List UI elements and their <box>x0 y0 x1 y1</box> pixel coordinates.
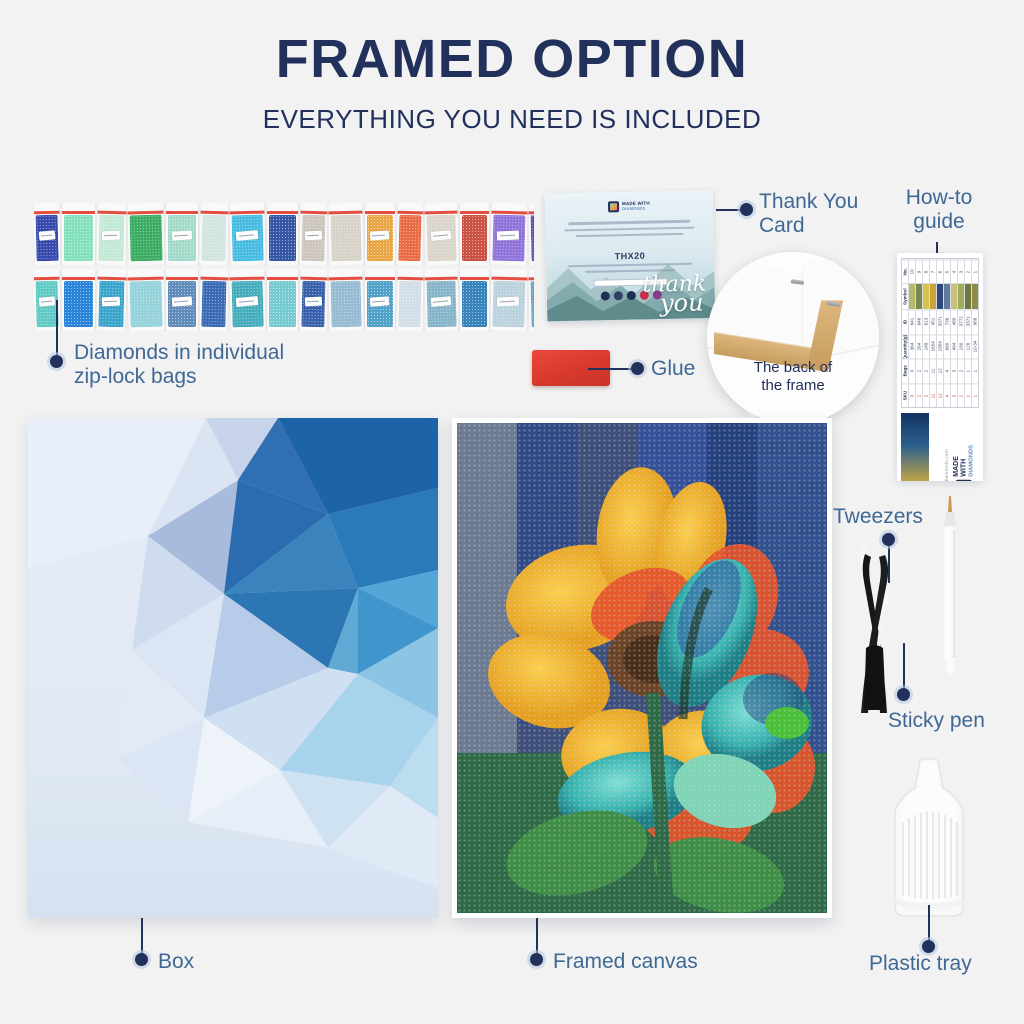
guide-chart-cell: 738 <box>944 309 950 333</box>
guide-chart-cell: 1654 <box>930 334 936 358</box>
bag-zip-seal <box>424 211 457 214</box>
dot-box <box>135 953 148 966</box>
card-body-text <box>560 220 698 241</box>
guide-chart-cell: 10-34 <box>972 334 978 358</box>
guide-chart-cell: 2 <box>958 358 964 382</box>
guide-chart-header-cell: SKU <box>902 383 908 407</box>
guide-chart-cell: 4 <box>951 259 957 283</box>
framed-canvas <box>452 418 832 918</box>
bag-label <box>38 296 55 307</box>
guide-chart-header-cell: Quantity(g) <box>902 334 908 358</box>
bag-zip-seal <box>98 211 127 214</box>
zip-lock-bag <box>490 203 528 265</box>
card-logo-mark-icon <box>608 201 619 212</box>
guide-chart-cell: 1 <box>972 358 978 382</box>
bag-zip-seal <box>166 211 198 214</box>
dot-tweezers <box>882 533 895 546</box>
zip-lock-bag <box>460 269 489 331</box>
label-frame-back: The back of the frame <box>707 359 879 394</box>
guide-chart-row: 448049433 <box>951 259 958 407</box>
guide-chart-cell: 3371 <box>937 309 943 333</box>
bag-zip-seal <box>301 277 328 280</box>
guide-chart-cell: 2 <box>923 383 929 407</box>
bag-zip-seal <box>328 277 362 280</box>
sticky-pen <box>938 496 962 700</box>
bag-zip-seal <box>201 277 229 280</box>
guide-chart-cell <box>909 283 915 309</box>
zip-lock-bag <box>528 269 534 331</box>
bag-label <box>171 296 191 307</box>
guide-chart-row: 3377219022 <box>958 259 965 407</box>
guide-chart-cell: 3772 <box>958 309 964 333</box>
bag-zip-seal <box>166 277 198 280</box>
guide-chart-cell <box>965 283 971 309</box>
plastic-tray <box>870 758 988 920</box>
bag-label <box>305 231 322 241</box>
label-plastic-tray: Plastic tray <box>869 952 972 976</box>
bag-label <box>370 296 389 307</box>
page-title: FRAMED OPTION <box>0 32 1024 86</box>
zip-lock-bag <box>424 269 459 331</box>
guide-chart-cell: 264 <box>916 334 922 358</box>
guide-chart-cell: 451 <box>930 309 936 333</box>
tweezers <box>846 528 902 713</box>
bag-beads <box>269 215 296 261</box>
guide-logo-mark-icon <box>956 480 972 481</box>
guide-chart-cell: 646 <box>916 309 922 333</box>
bag-label <box>305 297 322 307</box>
label-diamonds-bags: Diamonds in individual zip-lock bags <box>74 341 284 388</box>
bag-beads <box>331 281 362 328</box>
guide-chart-cell: 3371 <box>965 309 971 333</box>
guide-chart-cell <box>958 283 964 309</box>
bag-beads <box>269 281 296 327</box>
guide-chart-cell <box>951 283 957 309</box>
bag-label <box>38 230 55 241</box>
guide-chart-cell: 364 <box>909 334 915 358</box>
guide-chart-cell: 3 <box>909 358 915 382</box>
guide-chart-cell: 480 <box>951 309 957 333</box>
bag-beads <box>64 281 93 327</box>
guide-chart-cell <box>930 283 936 309</box>
guide-chart-cell: 2 <box>965 259 971 283</box>
diamond-bags-row-bottom <box>34 269 534 331</box>
guide-chart-cell: 1 <box>972 383 978 407</box>
zip-lock-bag <box>166 203 198 265</box>
zip-lock-bag <box>267 269 298 331</box>
frame-back-bubble: The back of the frame <box>707 252 879 424</box>
bag-zip-seal <box>267 211 298 214</box>
bag-zip-seal <box>398 277 424 280</box>
guide-sku-note: madewithdiamonds.com <box>944 449 949 481</box>
guide-chart-cell: 613 <box>923 309 929 333</box>
bag-beads <box>398 281 422 327</box>
how-to-guide: No.SymbolIDQuantity(g)BagsSKU10841364339… <box>897 253 983 481</box>
dot-glue <box>631 362 644 375</box>
diamond-bags-row-top <box>34 203 534 265</box>
bag-zip-seal <box>424 277 457 280</box>
guide-color-chart: No.SymbolIDQuantity(g)BagsSKU10841364339… <box>901 258 979 408</box>
leader-tray <box>928 905 930 943</box>
tiktok-icon <box>626 290 635 299</box>
bag-beads <box>530 215 534 262</box>
bag-zip-seal <box>460 277 489 280</box>
sticky-pen-icon <box>938 496 962 700</box>
guide-chart-row: 1084136433 <box>909 259 916 407</box>
guide-chart-cell <box>923 283 929 309</box>
zip-lock-bag <box>199 269 229 331</box>
guide-chart-cell: 4 <box>944 358 950 382</box>
guide-chart-cell: 2 <box>923 358 929 382</box>
guide-chart-row: 2337112811 <box>965 259 972 407</box>
bag-beads <box>462 215 488 261</box>
guide-chart-cell: 128 <box>965 334 971 358</box>
bag-zip-seal <box>62 277 95 280</box>
guide-chart-row: 861324822 <box>923 259 930 407</box>
label-framed-canvas: Framed canvas <box>553 950 698 974</box>
zip-lock-bag <box>127 203 165 265</box>
zip-lock-bag <box>267 203 298 265</box>
zip-lock-bag <box>199 203 229 265</box>
bag-beads <box>130 215 163 262</box>
guide-chart-row: 6337119541212 <box>937 259 944 407</box>
canvas-art-svg <box>457 423 827 913</box>
bag-beads <box>130 281 163 328</box>
guide-chart-cell: 11 <box>930 383 936 407</box>
page-subtitle: EVERYTHING YOU NEED IS INCLUDED <box>0 104 1024 135</box>
zip-lock-bag <box>528 203 534 265</box>
label-glue: Glue <box>651 357 695 381</box>
guide-chart-cell: 11 <box>930 358 936 382</box>
guide-chart-cell: 3 <box>951 358 957 382</box>
guide-chart-cell <box>937 283 943 309</box>
leader-glue <box>588 368 636 370</box>
dot-canvas <box>530 953 543 966</box>
guide-chart-cell: 6 <box>937 259 943 283</box>
guide-chart-cell: 3 <box>951 383 957 407</box>
guide-chart-cell: 660 <box>944 334 950 358</box>
zip-lock-bag <box>127 269 165 331</box>
product-box: MADEWITH DIAMONDS <box>28 418 438 918</box>
guide-chart-cell <box>972 283 978 309</box>
leader-diamonds <box>56 300 58 358</box>
zip-lock-bag <box>328 269 364 331</box>
guide-chart-cell: 12 <box>937 358 943 382</box>
guide-chart-cell: 3 <box>909 383 915 407</box>
bag-beads <box>201 215 227 261</box>
label-thank-you-card: Thank You Card <box>759 190 858 237</box>
guide-chart-cell: 12 <box>937 383 943 407</box>
zip-lock-bag <box>490 269 528 331</box>
guide-chart-cell: 9 <box>916 259 922 283</box>
guide-chart-cell: 10 <box>909 259 915 283</box>
bag-zip-seal <box>301 211 328 214</box>
bag-zip-seal <box>398 211 424 214</box>
bag-zip-seal <box>460 211 489 214</box>
guide-chart-cell: 1 <box>965 383 971 407</box>
guide-chart-cell <box>944 283 950 309</box>
bag-zip-seal <box>201 211 229 214</box>
guide-chart-header-column: No.SymbolIDQuantity(g)BagsSKU <box>902 259 909 407</box>
bag-beads <box>398 215 422 261</box>
zip-lock-bag <box>229 203 266 265</box>
zip-lock-bag <box>424 203 459 265</box>
bag-zip-seal <box>492 211 528 214</box>
bag-zip-seal <box>365 277 395 280</box>
guide-chart-row: 198810-3411 <box>972 259 978 407</box>
guide-chart-cell: 248 <box>923 334 929 358</box>
bag-zip-seal <box>34 211 59 214</box>
bag-zip-seal <box>365 211 395 214</box>
guide-chart-cell: 4 <box>944 383 950 407</box>
guide-preview-image <box>901 413 929 481</box>
zip-lock-bag <box>96 203 127 265</box>
guide-logo-text: MADE WITH DIAMONDS <box>953 443 975 477</box>
canvas-artwork <box>457 423 827 913</box>
bag-beads <box>331 215 362 262</box>
bag-label <box>497 296 520 306</box>
infographic-canvas: FRAMED OPTION EVERYTHING YOU NEED IS INC… <box>0 0 1024 1024</box>
dot-card <box>740 203 753 216</box>
zip-lock-bag <box>34 203 61 265</box>
guide-chart-header-cell: No. <box>902 259 908 283</box>
guide-logo: MADE WITH DIAMONDS <box>953 443 975 481</box>
guide-chart-cell: 2 <box>916 383 922 407</box>
card-logo: MADE WITH DIAMONDS <box>608 201 650 213</box>
bag-beads <box>530 281 534 328</box>
guide-chart-cell: 2 <box>916 358 922 382</box>
guide-chart-row: 573866044 <box>944 259 951 407</box>
zip-lock-bag <box>396 269 424 331</box>
zip-lock-bag <box>328 203 364 265</box>
guide-chart-cell: 494 <box>951 334 957 358</box>
bag-label <box>171 230 191 241</box>
dot-pen <box>897 688 910 701</box>
instagram-icon <box>613 291 622 300</box>
dot-diamonds <box>50 355 63 368</box>
thank-you-card: MADE WITH DIAMONDS THX20 thank you <box>545 190 716 321</box>
box-lowpoly-pattern <box>28 418 438 918</box>
facebook-icon <box>600 291 609 300</box>
zip-lock-bag <box>365 269 395 331</box>
label-how-to-guide: How-to guide <box>891 186 987 233</box>
guide-chart-header-cell: ID <box>902 309 908 333</box>
bag-zip-seal <box>98 277 127 280</box>
zip-lock-bag <box>62 203 95 265</box>
card-logo-text: MADE WITH DIAMONDS <box>622 201 650 212</box>
bag-zip-seal <box>328 211 362 214</box>
leader-canvas <box>536 918 538 956</box>
label-sticky-pen: Sticky pen <box>888 709 985 733</box>
bag-beads <box>201 281 227 327</box>
bag-zip-seal <box>127 211 163 214</box>
bag-zip-seal <box>267 277 298 280</box>
zip-lock-bag <box>365 203 395 265</box>
guide-chart-cell: 7 <box>930 259 936 283</box>
zip-lock-bag <box>229 269 266 331</box>
leader-tweezers <box>888 545 890 583</box>
guide-chart-cell: 3 <box>958 259 964 283</box>
bag-zip-seal <box>492 277 528 280</box>
zip-lock-bag <box>299 269 328 331</box>
guide-chart-row: 964626422 <box>916 259 923 407</box>
guide-chart-cell: 1 <box>972 259 978 283</box>
frame-photo <box>707 252 879 424</box>
bag-beads <box>64 215 93 261</box>
guide-chart-cell <box>916 283 922 309</box>
bag-zip-seal <box>62 211 95 214</box>
guide-chart-cell: 841 <box>909 309 915 333</box>
zip-lock-bag <box>460 203 489 265</box>
guide-chart-header-cell: Bags <box>902 358 908 382</box>
guide-chart-cell: 988 <box>972 309 978 333</box>
guide-chart-cell: 8 <box>923 259 929 283</box>
bag-zip-seal <box>528 277 534 280</box>
bag-zip-seal <box>229 211 264 214</box>
tweezers-icon <box>846 528 902 713</box>
bag-label <box>102 230 120 240</box>
guide-chart-cell: 5 <box>944 259 950 283</box>
bag-zip-seal <box>528 211 534 214</box>
bag-zip-seal <box>34 277 59 280</box>
zip-lock-bag <box>166 269 198 331</box>
guide-chart-cell: 1954 <box>937 334 943 358</box>
label-box: Box <box>158 950 194 974</box>
leader-box <box>141 918 143 956</box>
bag-label <box>102 296 120 306</box>
guide-chart-cell: 2 <box>958 383 964 407</box>
guide-chart-cell: 1 <box>965 358 971 382</box>
bag-zip-seal <box>127 277 163 280</box>
zip-lock-bag <box>299 203 328 265</box>
guide-chart-cell: 190 <box>958 334 964 358</box>
plastic-tray-icon <box>870 758 988 920</box>
leader-pen <box>903 643 905 691</box>
bag-label <box>370 230 389 241</box>
bag-beads <box>462 281 488 327</box>
guide-chart-header-cell: Symbol <box>902 283 908 309</box>
guide-chart-row: 745116541111 <box>930 259 937 407</box>
card-thank-you-script: thank you <box>642 276 706 315</box>
zip-lock-bag <box>96 269 127 331</box>
zip-lock-bag <box>62 269 95 331</box>
label-tweezers: Tweezers <box>833 505 923 529</box>
bag-label <box>497 230 520 240</box>
zip-lock-bag <box>396 203 424 265</box>
bag-zip-seal <box>229 277 264 280</box>
